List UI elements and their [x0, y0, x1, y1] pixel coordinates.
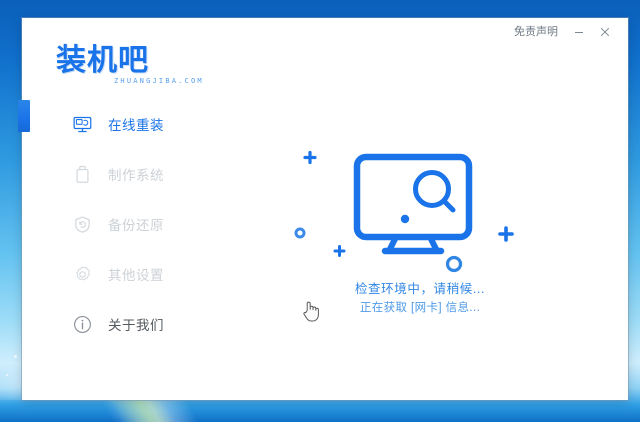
monitor-reinstall-icon [72, 114, 92, 134]
sidebar-item-create-system[interactable]: 制作系统 [22, 156, 212, 192]
status-secondary-text: 正在获取 [网卡] 信息... [212, 299, 628, 317]
sidebar-item-backup-restore[interactable]: 备份还原 [22, 206, 212, 242]
gear-icon [72, 264, 92, 284]
title-bar: 免责声明 [22, 18, 628, 46]
minimize-button[interactable] [566, 22, 592, 42]
logo-text: 装机吧 [56, 44, 206, 78]
sidebar-item-label: 在线重装 [108, 114, 164, 134]
status-block: 检查环境中，请稍候... 正在获取 [网卡] 信息... [212, 280, 628, 317]
sidebar-item-label: 关于我们 [108, 314, 164, 334]
monitor-with-magnifier-icon [290, 148, 535, 283]
usb-drive-icon [72, 164, 92, 184]
wallpaper-sparkle [14, 355, 17, 358]
window-controls: 免责声明 [506, 22, 618, 42]
app-logo: 装机吧 ZHUANGJIBA.COM [56, 44, 206, 90]
sidebar-item-about-us[interactable]: 关于我们 [22, 306, 212, 342]
sidebar-item-online-reinstall[interactable]: 在线重装 [22, 106, 212, 142]
info-circle-icon [72, 314, 92, 334]
wallpaper-sparkle [6, 374, 8, 376]
logo-domain-text: ZHUANGJIBA.COM [114, 77, 206, 85]
sidebar-item-label: 制作系统 [108, 164, 164, 184]
main-content: 检查环境中，请稍候... 正在获取 [网卡] 信息... [212, 58, 628, 400]
sidebar-item-label: 备份还原 [108, 214, 164, 234]
sidebar: 在线重装 制作系统 备份还原 [22, 106, 212, 356]
app-window: 免责声明 装机吧 ZHUANGJIBA.COM [22, 18, 628, 400]
disclaimer-link[interactable]: 免责声明 [506, 22, 566, 42]
sidebar-item-label: 其他设置 [108, 264, 164, 284]
close-button[interactable] [592, 22, 618, 42]
sidebar-item-other-settings[interactable]: 其他设置 [22, 256, 212, 292]
shield-restore-icon [72, 214, 92, 234]
status-primary-text: 检查环境中，请稍候... [212, 280, 628, 299]
